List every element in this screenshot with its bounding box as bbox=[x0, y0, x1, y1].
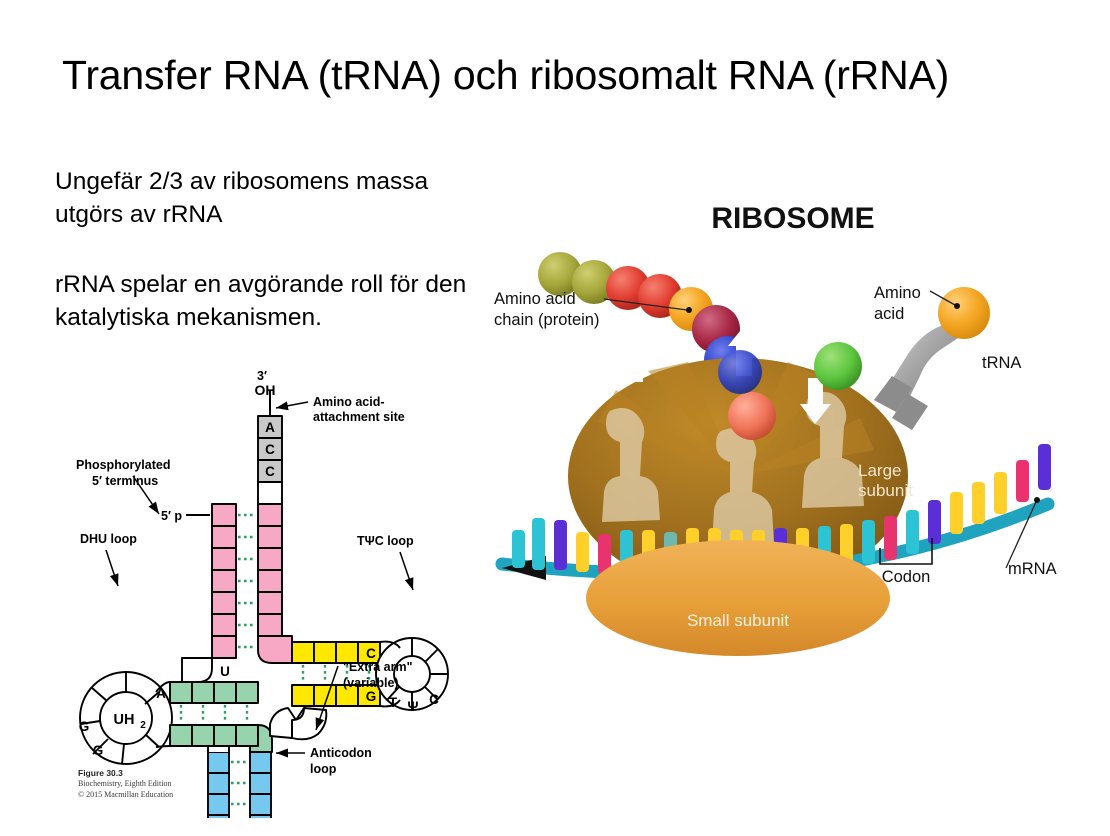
base-dhu-g1: G bbox=[79, 719, 90, 734]
label-5-prime-p: 5′ p bbox=[161, 509, 182, 523]
small-subunit bbox=[586, 540, 890, 656]
base-dhu-g2: G bbox=[93, 743, 104, 758]
label-3-prime: 3′ bbox=[257, 369, 267, 383]
base-dhu-uh2-subscript: 2 bbox=[140, 720, 146, 731]
base-tpsic-c-top: C bbox=[366, 646, 376, 661]
anticodon-stem-hbonds bbox=[231, 762, 248, 804]
label-amino-acid-chain-line1: Amino acid bbox=[494, 290, 576, 308]
acceptor-stem-3prime bbox=[258, 390, 292, 663]
label-phosphorylated-line2: 5′ terminus bbox=[92, 474, 158, 488]
anticodon-stem-right bbox=[250, 752, 271, 818]
label-phosphorylated-line1: Phosphorylated bbox=[76, 458, 170, 472]
anticodon-stem-left bbox=[208, 752, 229, 818]
label-small-subunit: Small subunit bbox=[687, 611, 789, 630]
label-amino-acid-line2: acid bbox=[874, 305, 904, 323]
base-tpsic-c-right: C bbox=[429, 692, 439, 707]
figure-copyright: © 2015 Macmillan Education bbox=[78, 790, 173, 801]
dhu-stem-hbonds bbox=[181, 705, 247, 723]
label-large-subunit-line2: subunit bbox=[858, 481, 913, 500]
slide-body-text: Ungefär 2/3 av ribosomens massa utgörs a… bbox=[55, 166, 475, 334]
label-tpsic-loop: TΨC loop bbox=[357, 534, 414, 548]
label-anticodon-line1: Anticodon bbox=[310, 746, 372, 760]
figure-caption: Figure 30.3 Biochemistry, Eighth Edition… bbox=[78, 768, 173, 801]
base-tpsic-t: T bbox=[389, 695, 398, 710]
acceptor-stem-hbonds bbox=[238, 515, 256, 647]
acceptor-stem-5prime bbox=[182, 504, 236, 682]
page-title: Transfer RNA (tRNA) och ribosomalt RNA (… bbox=[62, 52, 1062, 99]
base-acceptor-a: A bbox=[265, 420, 275, 435]
dhu-stem-top bbox=[170, 682, 258, 703]
label-amino-acid-attachment-line1: Amino acid- bbox=[313, 395, 385, 409]
base-acceptor-c2: C bbox=[265, 464, 275, 479]
label-amino-acid-line1: Amino bbox=[874, 284, 921, 302]
ribosome-title: RIBOSOME bbox=[711, 202, 874, 235]
base-tpsic-g: G bbox=[366, 689, 377, 704]
label-amino-acid-attachment-line2: attachment site bbox=[313, 410, 405, 424]
base-acceptor-u: U bbox=[220, 664, 230, 679]
base-acceptor-c1: C bbox=[265, 442, 275, 457]
label-extra-arm-line2: (variable) bbox=[343, 676, 399, 690]
base-dhu-a: A bbox=[156, 686, 166, 701]
label-extra-arm-line1: "Extra arm" bbox=[343, 660, 413, 674]
base-tpsic-psi: Ψ bbox=[408, 699, 419, 714]
label-mrna: mRNA bbox=[1008, 560, 1057, 578]
ribosome-diagram: RIBOSOME Amino acid chain (protein) Amin… bbox=[488, 186, 1100, 666]
label-anticodon-line2: loop bbox=[310, 762, 337, 776]
body-paragraph-1: Ungefär 2/3 av ribosomens massa utgörs a… bbox=[55, 166, 475, 231]
label-large-subunit-line1: Large bbox=[858, 461, 901, 480]
base-dhu-uh2: UH bbox=[114, 712, 135, 728]
trna-cloverleaf-diagram: 3′ OH Amino acid- attachment site Phosph… bbox=[60, 368, 480, 818]
label-dhu-loop: DHU loop bbox=[80, 532, 137, 546]
figure-number: Figure 30.3 bbox=[78, 768, 173, 779]
label-codon: Codon bbox=[882, 568, 931, 586]
label-oh: OH bbox=[255, 382, 276, 398]
label-amino-acid-chain-line2: chain (protein) bbox=[494, 311, 599, 329]
figure-book: Biochemistry, Eighth Edition bbox=[78, 779, 173, 790]
label-trna: tRNA bbox=[982, 354, 1021, 372]
body-paragraph-2: rRNA spelar en avgörande roll för den ka… bbox=[55, 269, 475, 334]
